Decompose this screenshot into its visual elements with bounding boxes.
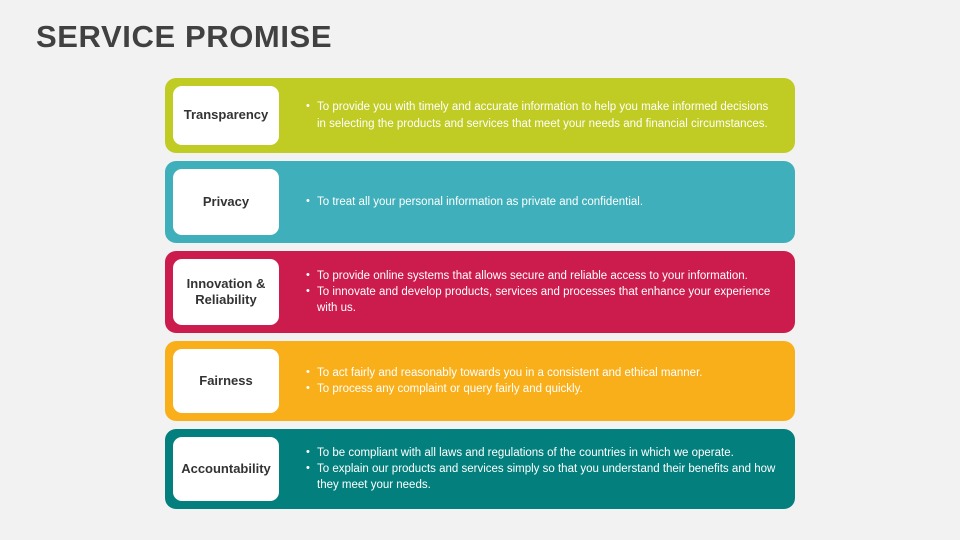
bullet-text: To act fairly and reasonably towards you…	[317, 365, 779, 381]
promise-row[interactable]: Accountability • To be compliant with al…	[165, 429, 795, 509]
list-item: • To explain our products and services s…	[306, 461, 779, 494]
list-item: • To act fairly and reasonably towards y…	[306, 365, 779, 381]
promise-row[interactable]: Fairness • To act fairly and reasonably …	[165, 341, 795, 421]
promise-label-box[interactable]: Transparency	[173, 86, 279, 145]
list-item: • To treat all your personal information…	[306, 194, 779, 210]
promise-label: Accountability	[181, 461, 271, 477]
promise-label-box[interactable]: Accountability	[173, 437, 279, 501]
promise-label-box[interactable]: Fairness	[173, 349, 279, 413]
promise-label: Innovation & Reliability	[178, 276, 274, 309]
promise-bullet-list: • To be compliant with all laws and regu…	[306, 445, 779, 494]
list-item: • To process any complaint or query fair…	[306, 381, 779, 397]
promise-label-box[interactable]: Privacy	[173, 169, 279, 235]
bullet-point-icon: •	[306, 284, 317, 300]
list-item: • To innovate and develop products, serv…	[306, 284, 779, 317]
promise-row[interactable]: Transparency • To provide you with timel…	[165, 78, 795, 153]
slide-canvas: SERVICE PROMISE Transparency • To provid…	[0, 0, 960, 540]
bullet-text: To provide you with timely and accurate …	[317, 99, 779, 132]
bullet-text: To explain our products and services sim…	[317, 461, 779, 494]
bullet-text: To be compliant with all laws and regula…	[317, 445, 779, 461]
bullet-point-icon: •	[306, 365, 317, 381]
promise-bullet-list: • To act fairly and reasonably towards y…	[306, 365, 779, 398]
page-title: SERVICE PROMISE	[36, 18, 332, 55]
promise-label: Fairness	[199, 373, 252, 389]
bullet-text: To treat all your personal information a…	[317, 194, 779, 210]
bullet-point-icon: •	[306, 381, 317, 397]
bullet-text: To provide online systems that allows se…	[317, 268, 779, 284]
bullet-point-icon: •	[306, 268, 317, 284]
promise-label: Transparency	[184, 107, 269, 123]
promise-row[interactable]: Innovation & Reliability • To provide on…	[165, 251, 795, 333]
bullet-text: To process any complaint or query fairly…	[317, 381, 779, 397]
promise-bullet-list: • To provide online systems that allows …	[306, 268, 779, 317]
promise-row[interactable]: Privacy • To treat all your personal inf…	[165, 161, 795, 243]
bullet-point-icon: •	[306, 445, 317, 461]
promise-bullet-list: • To provide you with timely and accurat…	[306, 99, 779, 132]
bullet-text: To innovate and develop products, servic…	[317, 284, 779, 317]
promise-row-list: Transparency • To provide you with timel…	[165, 78, 795, 517]
list-item: • To be compliant with all laws and regu…	[306, 445, 779, 461]
promise-label: Privacy	[203, 194, 249, 210]
bullet-point-icon: •	[306, 461, 317, 477]
bullet-point-icon: •	[306, 194, 317, 210]
list-item: • To provide online systems that allows …	[306, 268, 779, 284]
promise-label-box[interactable]: Innovation & Reliability	[173, 259, 279, 325]
bullet-point-icon: •	[306, 99, 317, 115]
promise-bullet-list: • To treat all your personal information…	[306, 194, 779, 210]
list-item: • To provide you with timely and accurat…	[306, 99, 779, 132]
